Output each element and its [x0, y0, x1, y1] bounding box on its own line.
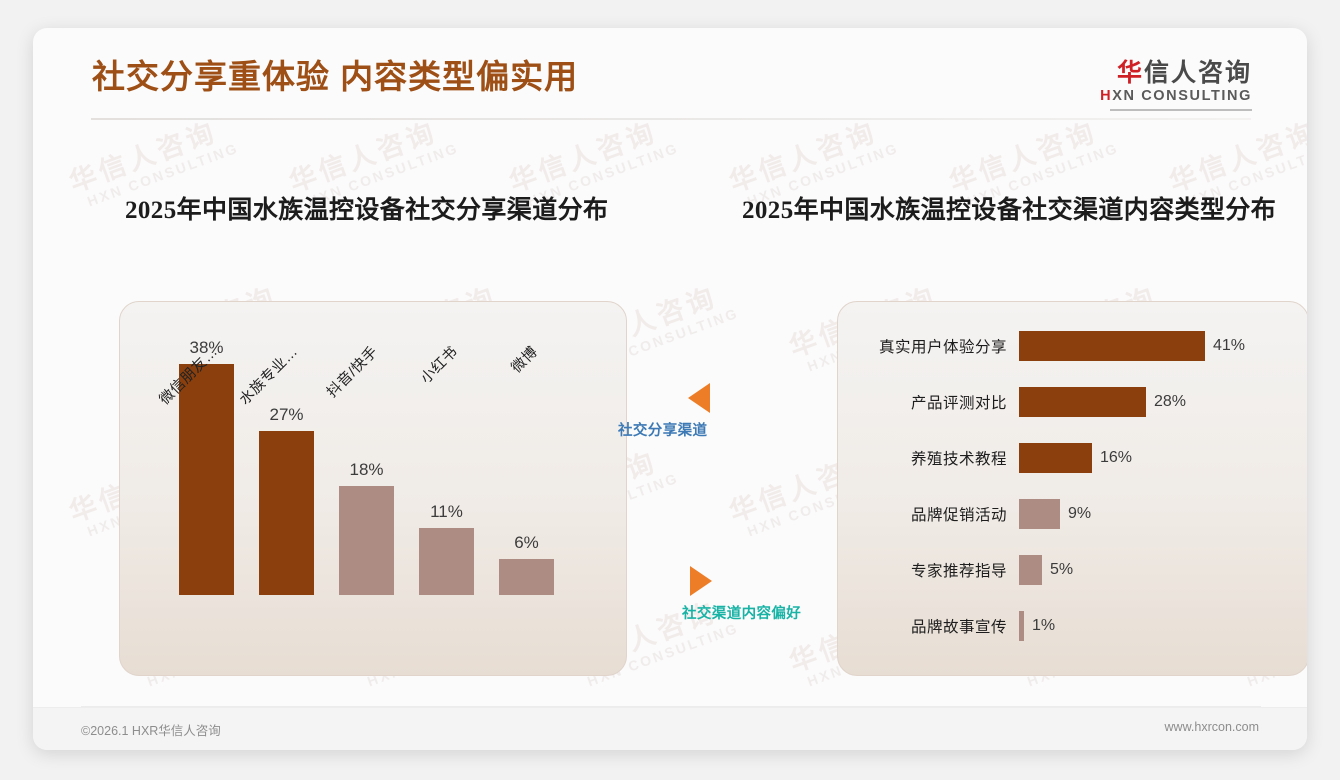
bar-category-label: 品牌促销活动 [837, 503, 1019, 525]
logo-chinese-text: 华信人咨询 [1100, 60, 1252, 86]
column-group[interactable]: 6%微博 [499, 335, 554, 595]
column-group[interactable]: 18%抖音/快手 [339, 335, 394, 595]
bar-value-label: 41% [1213, 337, 1245, 355]
company-logo: 华信人咨询 HXN CONSULTING [1100, 60, 1252, 111]
column-group[interactable]: 11%小红书 [419, 335, 474, 595]
share-channels-chart: 38%微信朋友…27%水族专业…18%抖音/快手11%小红书6%微博 [119, 301, 625, 674]
logo-underline [1110, 109, 1252, 111]
slide-footer: ©2026.1 HXR华信人咨询 www.hxrcon.com [33, 707, 1307, 750]
copyright-text: ©2026.1 HXR华信人咨询 [81, 720, 221, 739]
bar-row[interactable]: 专家推荐指导5% [837, 555, 1307, 585]
column-group[interactable]: 38%微信朋友… [179, 335, 234, 595]
right-chart-title: 2025年中国水族温控设备社交渠道内容类型分布 [742, 190, 1276, 226]
column-bar[interactable] [179, 364, 234, 595]
column-category-label: 微博 [505, 341, 541, 377]
bar-category-label: 产品评测对比 [837, 391, 1019, 413]
bar-fill[interactable] [1019, 611, 1024, 641]
column-category-label: 水族专业… [233, 341, 301, 409]
logo-accent-char: 华 [1117, 59, 1144, 87]
bar-fill[interactable] [1019, 331, 1205, 361]
bar-category-label: 养殖技术教程 [837, 447, 1019, 469]
column-bar[interactable] [339, 486, 394, 595]
marker-content-label: 社交渠道内容偏好 [682, 602, 801, 623]
bar-value-label: 28% [1154, 393, 1186, 411]
column-group[interactable]: 27%水族专业… [259, 335, 314, 595]
bar-value-label: 5% [1050, 561, 1073, 579]
bar-row[interactable]: 真实用户体验分享41% [837, 331, 1307, 361]
page-title: 社交分享重体验 内容类型偏实用 [92, 50, 578, 98]
column-bar[interactable] [259, 431, 314, 595]
column-bar[interactable] [419, 528, 474, 595]
logo-en-rest: XN CONSULTING [1112, 88, 1252, 104]
bar-fill[interactable] [1019, 387, 1146, 417]
header-divider [91, 118, 1251, 120]
triangle-right-icon [690, 566, 712, 596]
column-category-label: 小红书 [415, 341, 462, 388]
bar-value-label: 1% [1032, 617, 1055, 635]
logo-english-text: HXN CONSULTING [1100, 88, 1252, 104]
bar-row[interactable]: 品牌促销活动9% [837, 499, 1307, 529]
bar-category-label: 品牌故事宣传 [837, 615, 1019, 637]
marker-content-preference: 社交渠道内容偏好 [690, 566, 801, 623]
column-category-label: 抖音/快手 [321, 341, 381, 401]
column-value-label: 27% [269, 405, 303, 425]
slide-card: 华信人咨询HXN CONSULTING华信人咨询HXN CONSULTING华信… [33, 28, 1307, 750]
bar-fill[interactable] [1019, 443, 1092, 473]
triangle-left-icon [688, 383, 710, 413]
bar-fill[interactable] [1019, 555, 1042, 585]
column-value-label: 18% [349, 460, 383, 480]
marker-share-label: 社交分享渠道 [618, 419, 710, 440]
column-bar[interactable] [499, 559, 554, 595]
column-value-label: 11% [430, 502, 463, 522]
bar-row[interactable]: 养殖技术教程16% [837, 443, 1307, 473]
bar-fill[interactable] [1019, 499, 1060, 529]
logo-en-accent: H [1100, 88, 1112, 104]
logo-cn-rest: 信人咨询 [1144, 59, 1252, 87]
bar-row[interactable]: 品牌故事宣传1% [837, 611, 1307, 641]
content-types-chart: 真实用户体验分享41%产品评测对比28%养殖技术教程16%品牌促销活动9%专家推… [837, 301, 1307, 674]
bar-row[interactable]: 产品评测对比28% [837, 387, 1307, 417]
bar-value-label: 16% [1100, 449, 1132, 467]
column-value-label: 6% [514, 533, 539, 553]
website-text: www.hxrcon.com [1165, 720, 1259, 734]
bar-category-label: 真实用户体验分享 [837, 335, 1019, 357]
marker-share-channels: 社交分享渠道 [688, 383, 710, 440]
bar-value-label: 9% [1068, 505, 1091, 523]
slide-header: 社交分享重体验 内容类型偏实用 华信人咨询 HXN CONSULTING [33, 28, 1307, 128]
bar-category-label: 专家推荐指导 [837, 559, 1019, 581]
left-chart-title: 2025年中国水族温控设备社交分享渠道分布 [125, 190, 608, 226]
